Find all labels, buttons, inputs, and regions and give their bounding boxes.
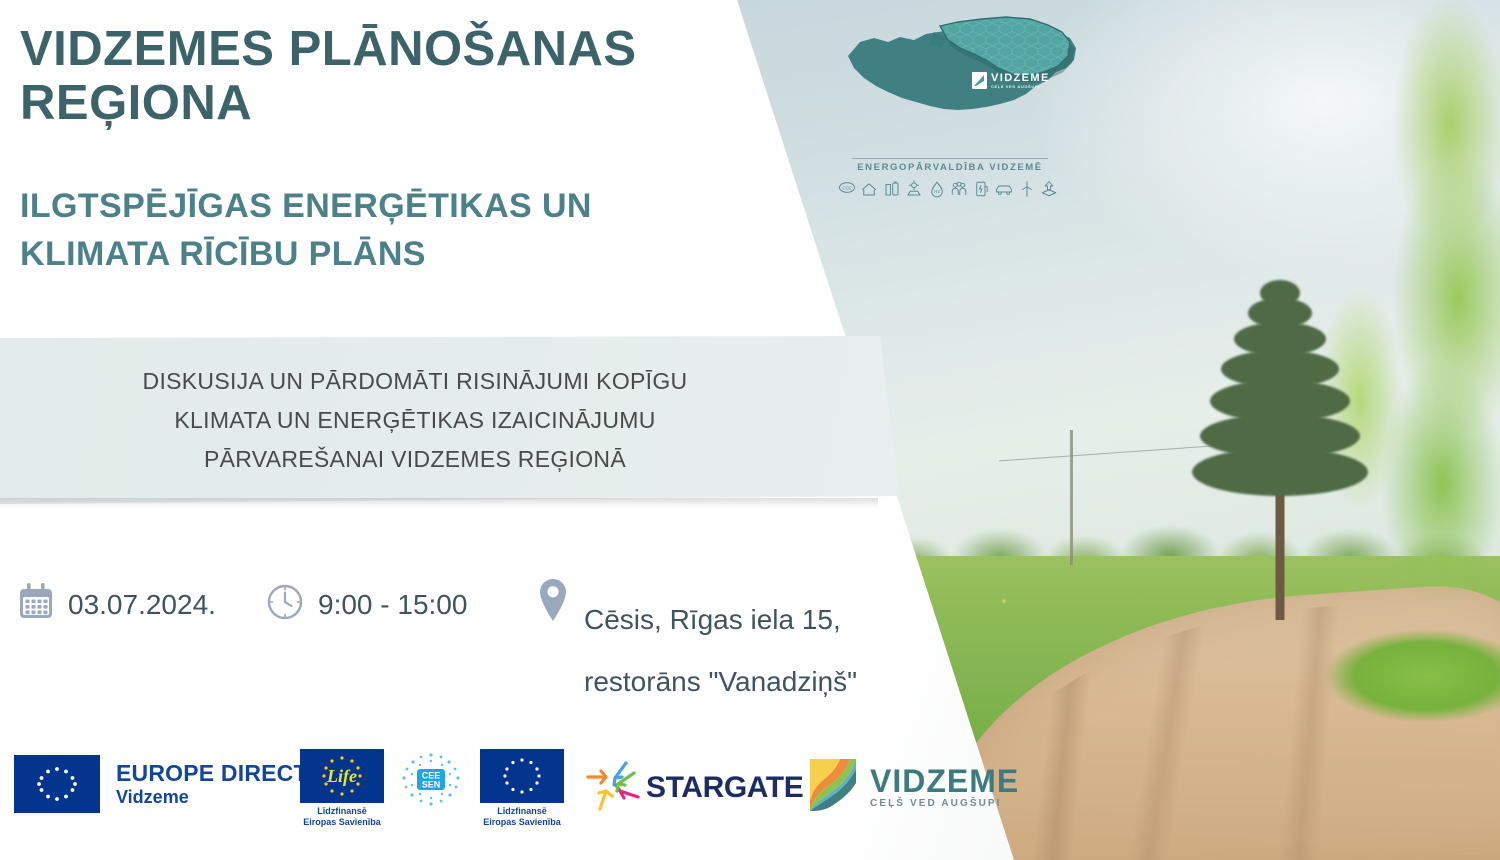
solar-panel-icon (905, 180, 923, 198)
event-location-text: Cēsis, Rīgas iela 15, restorāns "Vanadzi… (584, 573, 857, 728)
logo-ceesen[interactable]: CEE SEN (392, 749, 470, 811)
latvia-map (830, 12, 1090, 162)
pine-tree (1190, 280, 1370, 580)
utility-pole (1070, 430, 1073, 565)
eu-cofunding-caption: Līdzfinansē Eiropas Savienība (480, 806, 564, 828)
logo-stargate[interactable]: STARGATE (584, 757, 803, 818)
vidzeme-swoosh-icon (972, 72, 987, 89)
subtitle-line-1: ILGTSPĒJĪGAS ENERĢĒTIKAS UN (20, 182, 740, 230)
vidzeme-tagline: CEĻŠ VED AUGŠUPI (870, 798, 1019, 809)
page-title: VIDZEMES PLĀNOŠANAS REĢIONA (20, 22, 740, 130)
stargate-wordmark: STARGATE (646, 771, 803, 805)
europe-direct-subtitle: Vidzeme (116, 786, 308, 808)
map-pin-icon (536, 577, 570, 628)
description-band-shadow (0, 498, 880, 508)
ev-charger-icon (973, 180, 991, 198)
water-drop-h2o-icon: H2 (928, 180, 946, 198)
life-cofunding-caption: Līdzfinansē Eiropas Savienība (300, 806, 384, 828)
event-details-row: 03.07.2024. 9:00 - 15:00 (14, 565, 914, 645)
europe-direct-title: EUROPE DIRECT (116, 760, 308, 786)
description-line-3: PĀRVAREŠANAI VIDZEMES REĢIONĀ (0, 440, 830, 479)
energy-management-map-graphic: VIDZEME CEĻŠ VED AUGŠUPI ENERGOPĀRVALDĪB… (830, 12, 1090, 212)
svg-text:H2: H2 (934, 189, 940, 194)
map-badge-tagline: CEĻŠ VED AUGŠUPI (991, 84, 1050, 89)
event-time: 9:00 - 15:00 (266, 583, 467, 626)
map-badge-name: VIDZEME (991, 72, 1050, 84)
subtitle-line-2: KLIMATA RĪCĪBU PLĀNS (20, 230, 740, 278)
people-icon (950, 180, 968, 198)
location-line-1: Cēsis, Rīgas iela 15, (584, 604, 857, 635)
description-line-1: DISKUSIJA UN PĀRDOMĀTI RISINĀJUMI KOPĪGU (0, 362, 830, 401)
description-line-2: KLIMATA UN ENERĢĒTIKAS IZAICINĀJUMU (0, 401, 830, 440)
energy-icon-row: CO2 H2 (838, 180, 1058, 198)
logo-europe-direct[interactable]: EUROPE DIRECT Vidzeme (14, 755, 308, 813)
logo-life[interactable]: Life Līdzfinansē Eiropas Savienība (300, 749, 384, 828)
eu-cofunded-flag-icon (480, 749, 564, 803)
wind-turbine-icon (1018, 180, 1036, 198)
eu-cofunding-line-2: Eiropas Savienība (480, 817, 564, 828)
upward-arrow-icon (1040, 180, 1058, 198)
description-text: DISKUSIJA UN PĀRDOMĀTI RISINĀJUMI KOPĪGU… (0, 362, 830, 479)
life-eu-flag-icon: Life (300, 749, 384, 803)
life-cofunding-line-2: Eiropas Savienība (300, 817, 384, 828)
svg-text:CO2: CO2 (842, 185, 852, 190)
logo-eu-cofunded[interactable]: Līdzfinansē Eiropas Savienība (480, 749, 564, 828)
eu-cofunding-line-1: Līdzfinansē (480, 806, 564, 817)
event-poster: VIDZEMES PLĀNOŠANAS REĢIONA ILGTSPĒJĪGAS… (0, 0, 1500, 860)
vidzeme-wordmark: VIDZEME (870, 765, 1019, 798)
car-icon (995, 180, 1013, 198)
map-caption: ENERGOPĀRVALDĪBA VIDZEMĒ (852, 158, 1048, 173)
calendar-icon (18, 583, 54, 626)
ceesen-dots-icon: CEE SEN (392, 749, 470, 811)
title-line-2: REĢIONA (20, 76, 740, 130)
clock-icon (266, 583, 304, 626)
roadside-grass (1300, 610, 1500, 730)
sponsor-logo-strip: EUROPE DIRECT Vidzeme Life (0, 735, 1000, 845)
co2-icon: CO2 (838, 180, 856, 198)
event-date: 03.07.2024. (18, 583, 216, 626)
ceesen-line-2: SEN (422, 780, 441, 790)
house-icon (860, 180, 878, 198)
life-cofunding-line-1: Līdzfinansē (300, 806, 384, 817)
title-line-1: VIDZEMES PLĀNOŠANAS (20, 22, 740, 76)
pine-trunk (1276, 490, 1285, 620)
logo-vidzeme[interactable]: VIDZEME CEĻŠ VED AUGŠUPI (806, 753, 1019, 820)
event-date-text: 03.07.2024. (68, 589, 216, 620)
event-location: Cēsis, Rīgas iela 15, restorāns "Vanadzi… (536, 573, 857, 728)
eu-flag-icon (14, 755, 100, 813)
location-line-2: restorāns "Vanadziņš" (584, 666, 857, 697)
event-time-text: 9:00 - 15:00 (318, 589, 467, 620)
page-subtitle: ILGTSPĒJĪGAS ENERĢĒTIKAS UN KLIMATA RĪCĪ… (20, 182, 740, 278)
map-vidzeme-badge: VIDZEME CEĻŠ VED AUGŠUPI (972, 72, 1050, 89)
pinwheel-arrows-icon (584, 757, 642, 818)
battery-icon (883, 180, 901, 198)
svg-text:Life: Life (326, 766, 357, 786)
vidzeme-swoosh-icon (806, 753, 858, 820)
